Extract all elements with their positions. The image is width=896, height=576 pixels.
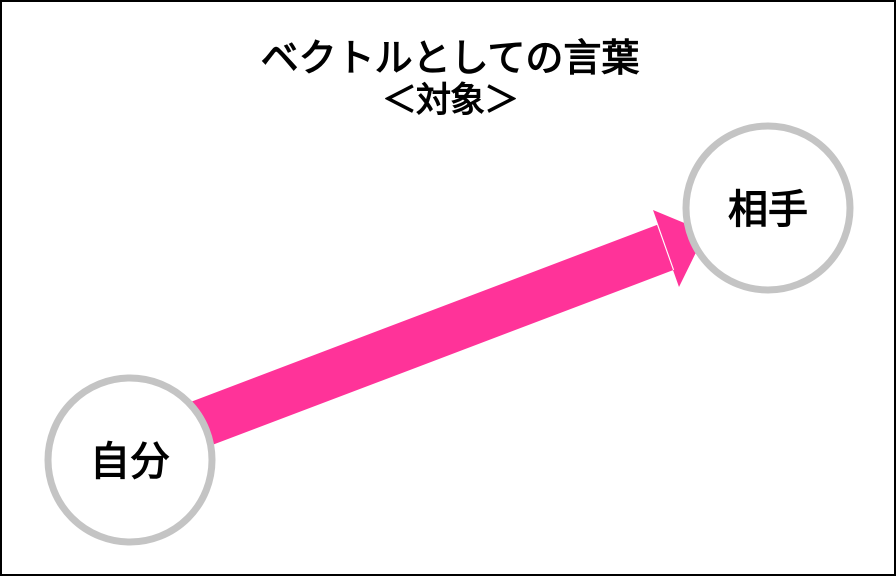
node-other[interactable]: 相手: [686, 126, 850, 290]
node-self-label: 自分: [90, 439, 170, 485]
node-other-label: 相手: [728, 187, 808, 233]
vector-arrow: [192, 210, 707, 446]
diagram-canvas: ベクトルとしての言葉 ＜対象＞ 自分 相手: [0, 0, 896, 576]
node-self[interactable]: 自分: [48, 378, 212, 542]
diagram-scene: 自分 相手: [2, 2, 896, 576]
